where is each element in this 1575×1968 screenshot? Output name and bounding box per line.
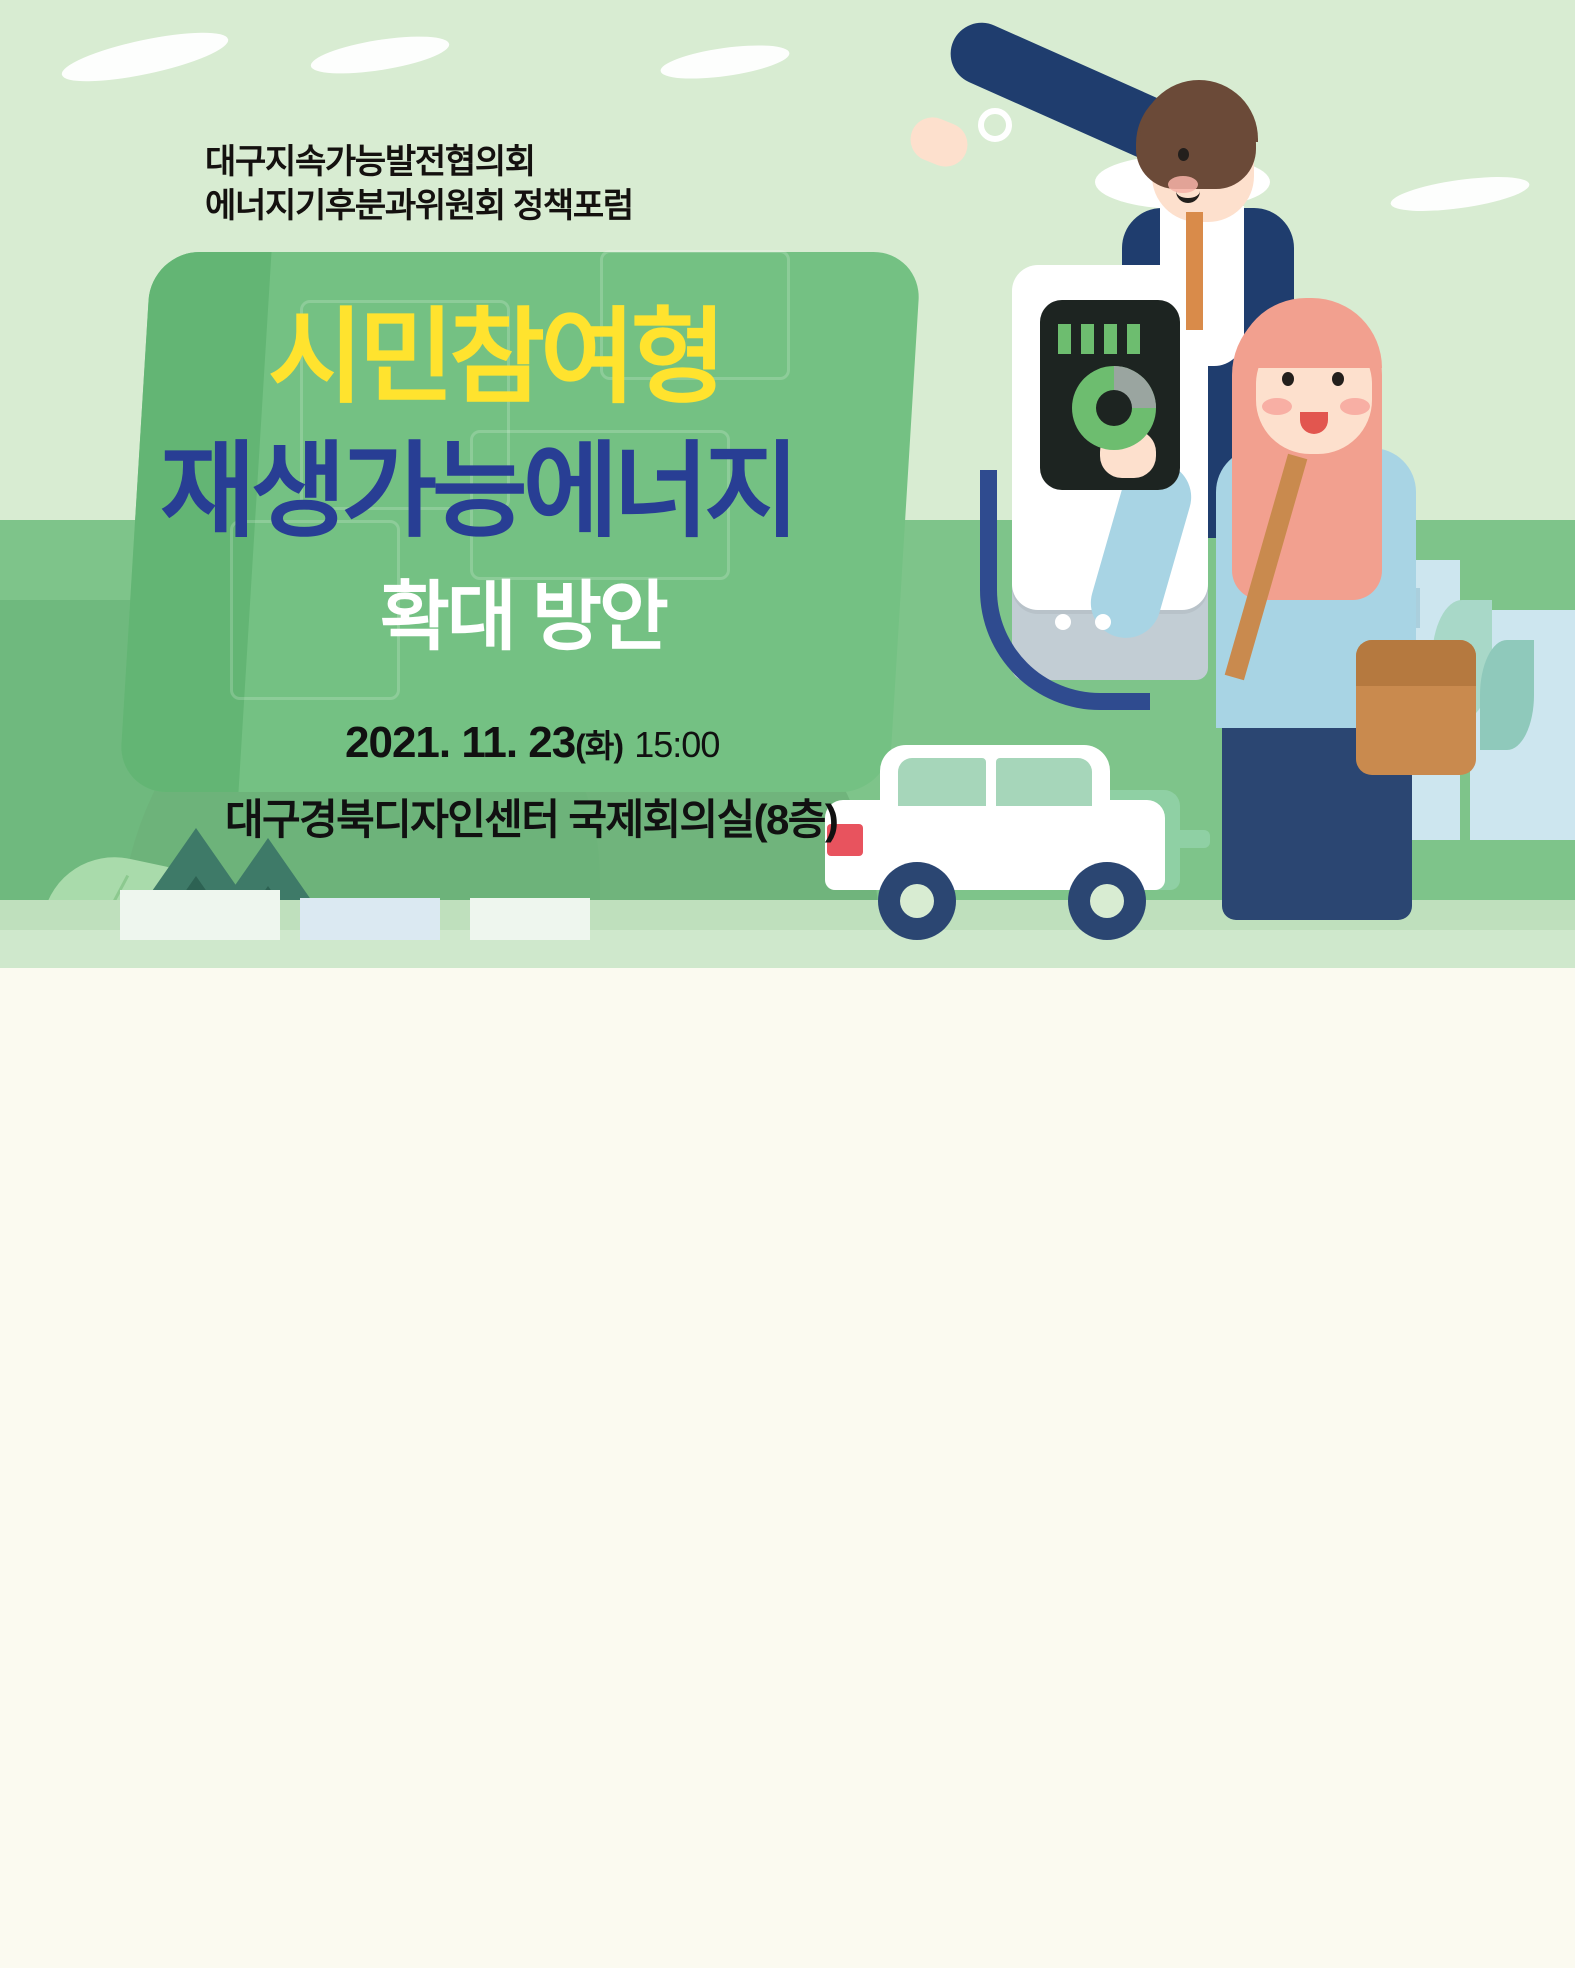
title-line-1: 시민참여형	[268, 306, 721, 410]
ring-icon	[978, 108, 1012, 142]
charger-indicator-2	[1095, 614, 1111, 630]
car-wheel-front-hub	[900, 884, 934, 918]
car-window-rear	[996, 758, 1092, 806]
woman-eye-right	[1332, 372, 1344, 386]
organizer-kicker: 대구지속가능발전협의회 에너지기후분과위원회 정책포럼	[205, 140, 633, 228]
event-venue: 대구경북디자인센터 국제회의실(8층)	[225, 786, 837, 847]
ground-block-2	[300, 898, 440, 940]
ground-block-1	[120, 890, 280, 940]
charge-bar-2	[1081, 324, 1094, 354]
event-weekday: (화)	[575, 728, 623, 764]
cloud-swoosh-2	[309, 29, 452, 81]
charger-indicator-1	[1055, 614, 1071, 630]
cloud-swoosh-5	[1389, 170, 1532, 217]
charge-bar-1	[1058, 324, 1071, 354]
woman-cheek-left	[1262, 398, 1292, 415]
ground-block-3	[470, 898, 590, 940]
bag-flap	[1356, 640, 1476, 686]
hero-section: 대구지속가능발전협의회 에너지기후분과위원회 정책포럼 시민참여형 재생가능에너…	[0, 0, 1575, 968]
cloud-swoosh-3	[659, 39, 792, 85]
event-date: 2021. 11. 23	[345, 718, 575, 767]
charge-bar-4	[1127, 324, 1140, 354]
event-time: 15:00	[634, 724, 719, 765]
woman-eye-left	[1282, 372, 1294, 386]
charge-bar-3	[1104, 324, 1117, 354]
man-tie	[1186, 212, 1203, 330]
cloud-swoosh-1	[58, 23, 231, 92]
program-section: 프로그램 시간 구분 세부내용 14:30~15:00 접수 참가자 접수 및 …	[0, 968, 1575, 1968]
car-wheel-rear-hub	[1090, 884, 1124, 918]
event-datetime: 2021. 11. 23(화) 15:00	[345, 718, 719, 768]
decorative-plant-2	[1480, 640, 1534, 750]
title-line-2: 재생가능에너지	[160, 440, 795, 544]
title-line-3: 확대 방안	[380, 580, 666, 656]
man-eye	[1178, 148, 1189, 161]
man-hair-top	[1140, 80, 1258, 142]
car-window-front	[898, 758, 986, 806]
charge-gauge-center	[1096, 390, 1132, 426]
poster: 대구지속가능발전협의회 에너지기후분과위원회 정책포럼 시민참여형 재생가능에너…	[0, 0, 1575, 1968]
man-pointing-hand	[904, 111, 974, 174]
woman-cheek-right	[1340, 398, 1370, 415]
